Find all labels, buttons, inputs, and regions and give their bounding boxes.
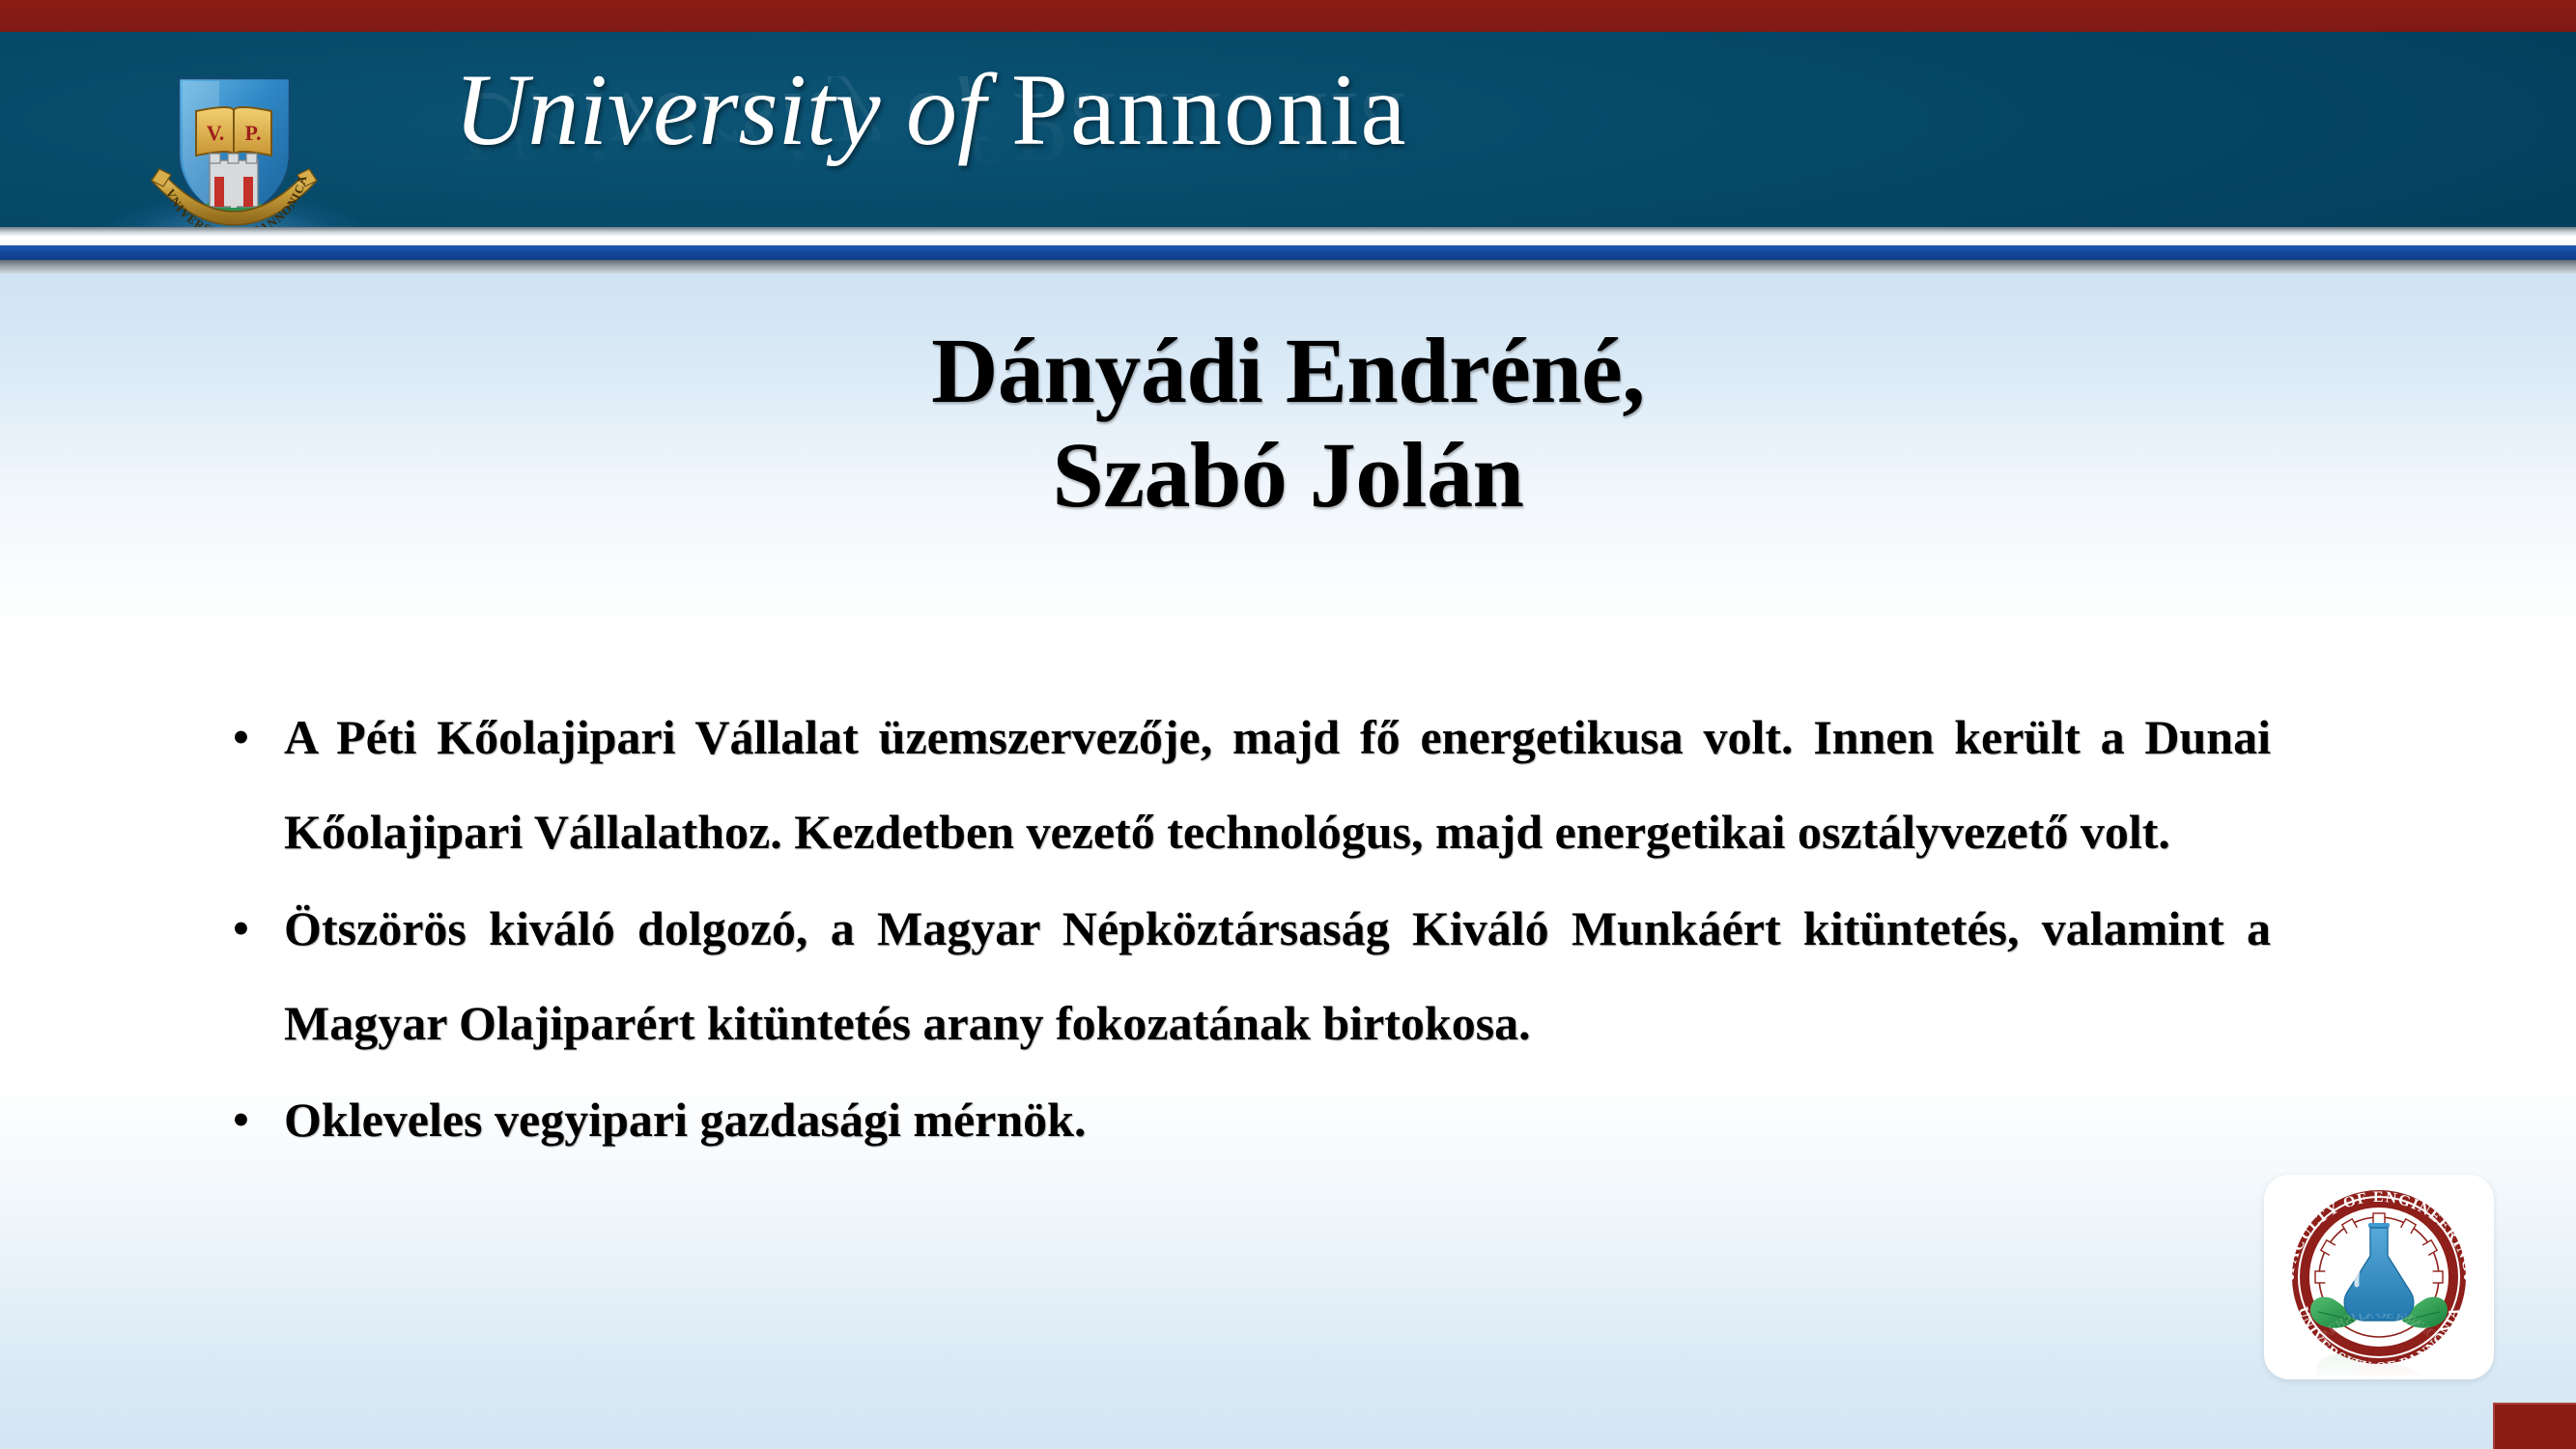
list-item: • Ötszörös kiváló dolgozó, a Magyar Népk… (228, 881, 2271, 1070)
header-top-red-band (0, 0, 2576, 32)
brand-upright-text: Pannonia (1011, 53, 1408, 166)
divider-blue-stripe (0, 245, 2576, 260)
crest-svg: V. P. (150, 69, 319, 227)
list-item-text: A Péti Kőolajipari Vállalat üzemszervező… (284, 690, 2271, 879)
divider-white (0, 236, 2576, 245)
bullet-glyph-icon: • (228, 1072, 284, 1167)
divider-gray-upper (0, 227, 2576, 236)
brand-title: University of Pannonia (454, 59, 1408, 161)
page-title-line-1: Dányádi Endréné, (0, 319, 2576, 423)
svg-text:V.: V. (207, 121, 225, 145)
faculty-logo-svg: FACULTY OF ENGINEERING UNIVERSITY OF PAN… (2264, 1175, 2494, 1379)
faculty-logo: FACULTY OF ENGINEERING UNIVERSITY OF PAN… (2264, 1175, 2494, 1379)
corner-accent-block (2493, 1403, 2576, 1449)
page-title-line-2: Szabó Jolán (0, 423, 2576, 527)
divider-gray-lower (0, 260, 2576, 273)
brand-italic-text: University of (454, 53, 986, 166)
bullet-list: • A Péti Kőolajipari Vállalat üzemszerve… (228, 690, 2271, 1169)
list-item: • Okleveles vegyipari gazdasági mérnök. (228, 1072, 2271, 1167)
svg-text:P.: P. (245, 121, 262, 145)
bullet-glyph-icon: • (228, 881, 284, 976)
list-item: • A Péti Kőolajipari Vállalat üzemszerve… (228, 690, 2271, 879)
list-item-text: Okleveles vegyipari gazdasági mérnök. (284, 1072, 2271, 1167)
university-crest-icon: V. P. (150, 69, 319, 227)
page-title: Dányádi Endréné, Szabó Jolán (0, 319, 2576, 526)
bullet-glyph-icon: • (228, 690, 284, 784)
header-banner: University of Pannonia University of Pan… (0, 32, 2576, 227)
list-item-text: Ötszörös kiváló dolgozó, a Magyar Népköz… (284, 881, 2271, 1070)
presentation-slide: University of Pannonia University of Pan… (0, 0, 2576, 1449)
